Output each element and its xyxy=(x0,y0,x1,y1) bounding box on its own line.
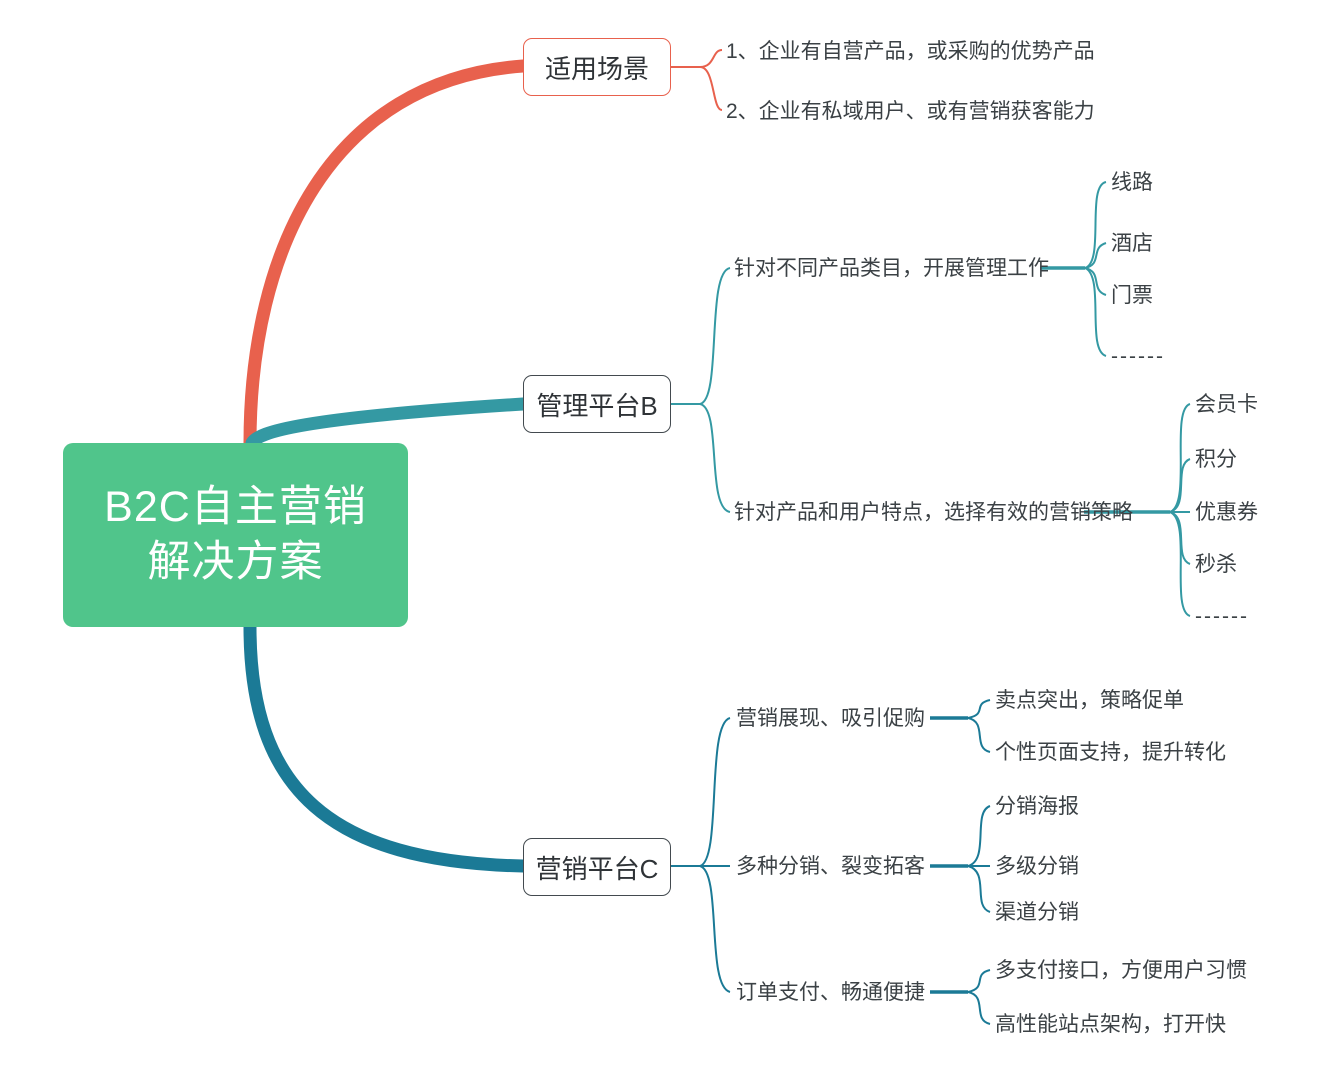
edge-category-leaf-1 xyxy=(1085,182,1106,268)
edge-root-to-market xyxy=(250,627,523,866)
edge-distribution-leaf-1 xyxy=(968,806,990,866)
market-child-payment[interactable]: 订单支付、畅通便捷 xyxy=(736,982,925,1003)
display-leaf-selling-point[interactable]: 卖点突出，策略促单 xyxy=(995,690,1184,711)
distribution-leaf-channel[interactable]: 渠道分销 xyxy=(995,902,1079,923)
scene-child-2[interactable]: 2、企业有私域用户、或有营销获客能力 xyxy=(726,101,1095,122)
edge-market-child-3 xyxy=(700,866,730,992)
branch-node-market-label: 营销平台C xyxy=(536,849,659,886)
edge-scene-child-2 xyxy=(700,67,722,110)
scene-child-1[interactable]: 1、企业有自营产品，或采购的优势产品 xyxy=(726,41,1095,62)
category-leaf-hotel[interactable]: 酒店 xyxy=(1111,233,1153,254)
category-leaf-route[interactable]: 线路 xyxy=(1111,172,1153,193)
edge-root-to-scene xyxy=(250,66,523,443)
edge-strategy-leaf-5 xyxy=(1170,512,1190,616)
strategy-leaf-coupon[interactable]: 优惠券 xyxy=(1195,502,1258,523)
edge-scene-child-1 xyxy=(700,50,722,67)
manage-child-category[interactable]: 针对不同产品类目，开展管理工作 xyxy=(734,258,1049,279)
payment-leaf-performance[interactable]: 高性能站点架构，打开快 xyxy=(995,1014,1226,1035)
branch-node-manage-label: 管理平台B xyxy=(536,386,657,423)
edge-strategy-leaf-2 xyxy=(1170,459,1190,512)
edge-strategy-leaf-1 xyxy=(1170,404,1190,512)
manage-child-strategy[interactable]: 针对产品和用户特点，选择有效的营销策略 xyxy=(734,502,1133,523)
edge-category-leaf-4 xyxy=(1085,268,1106,356)
edge-category-leaf-3 xyxy=(1085,268,1106,295)
edge-market-child-1 xyxy=(700,718,730,866)
strategy-leaf-membercard[interactable]: 会员卡 xyxy=(1195,394,1258,415)
edge-root-to-manage xyxy=(252,404,523,443)
root-title-line-2: 解决方案 xyxy=(148,535,324,590)
strategy-leaf-more[interactable]: ------ xyxy=(1195,606,1249,627)
distribution-leaf-poster[interactable]: 分销海报 xyxy=(995,796,1079,817)
category-leaf-more[interactable]: ------ xyxy=(1111,346,1165,367)
strategy-leaf-flashsale[interactable]: 秒杀 xyxy=(1195,554,1237,575)
edge-distribution-leaf-3 xyxy=(968,866,990,912)
edge-display-leaf-2 xyxy=(968,718,990,752)
edge-manage-child-1 xyxy=(700,268,730,404)
strategy-leaf-points[interactable]: 积分 xyxy=(1195,449,1237,470)
mindmap-canvas: B2C自主营销 解决方案 适用场景 管理平台B 营销平台C 1、企业有自营产品，… xyxy=(0,0,1338,1086)
category-leaf-ticket[interactable]: 门票 xyxy=(1111,285,1153,306)
market-child-distribution[interactable]: 多种分销、裂变拓客 xyxy=(736,856,925,877)
root-title-line-1: B2C自主营销 xyxy=(104,480,367,535)
root-node[interactable]: B2C自主营销 解决方案 xyxy=(63,443,408,627)
market-child-display[interactable]: 营销展现、吸引促购 xyxy=(736,708,925,729)
branch-node-scene[interactable]: 适用场景 xyxy=(523,38,671,96)
branch-node-market[interactable]: 营销平台C xyxy=(523,838,671,896)
edge-manage-child-2 xyxy=(700,404,730,512)
edge-category-leaf-2 xyxy=(1085,243,1106,268)
branch-node-scene-label: 适用场景 xyxy=(545,49,649,86)
edge-payment-leaf-1 xyxy=(968,970,990,992)
branch-node-manage[interactable]: 管理平台B xyxy=(523,375,671,433)
display-leaf-custom-page[interactable]: 个性页面支持，提升转化 xyxy=(995,742,1226,763)
payment-leaf-interfaces[interactable]: 多支付接口，方便用户习惯 xyxy=(995,960,1247,981)
edge-payment-leaf-2 xyxy=(968,992,990,1024)
distribution-leaf-multilevel[interactable]: 多级分销 xyxy=(995,856,1079,877)
edge-strategy-leaf-4 xyxy=(1170,512,1190,564)
edge-display-leaf-1 xyxy=(968,700,990,718)
